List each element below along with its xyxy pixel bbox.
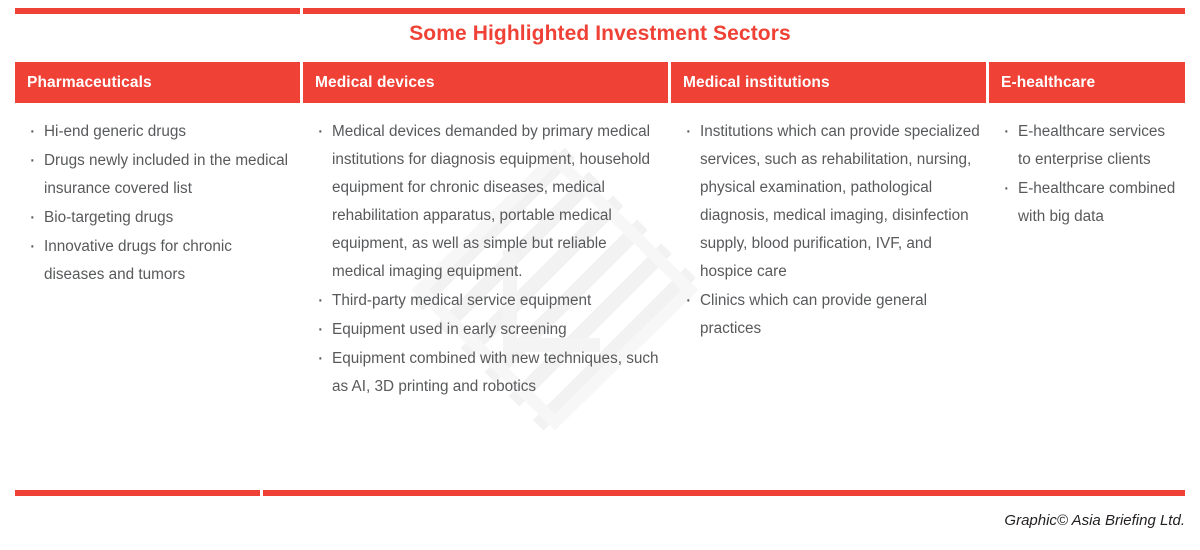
investment-sectors-infographic: Some Highlighted Investment Sectors Phar… xyxy=(0,0,1200,550)
column-header-medical-devices: Medical devices xyxy=(303,62,668,103)
list-item: Bio-targeting drugs xyxy=(27,204,295,232)
list-item: Equipment combined with new techniques, … xyxy=(315,345,663,401)
bullet-list-pharmaceuticals: Hi-end generic drugs Drugs newly include… xyxy=(27,118,295,289)
bullet-list-medical-institutions: Institutions which can provide specializ… xyxy=(683,118,981,343)
column-header-row: Pharmaceuticals Medical devices Medical … xyxy=(15,62,1185,103)
list-item: E-healthcare services to enterprise clie… xyxy=(1001,118,1177,174)
list-item: Innovative drugs for chronic diseases an… xyxy=(27,233,295,289)
list-item: Third-party medical service equipment xyxy=(315,287,663,315)
list-item: Medical devices demanded by primary medi… xyxy=(315,118,663,286)
column-body-pharmaceuticals: Hi-end generic drugs Drugs newly include… xyxy=(15,118,303,402)
page-title: Some Highlighted Investment Sectors xyxy=(0,22,1200,46)
list-item: Institutions which can provide specializ… xyxy=(683,118,981,286)
bullet-list-medical-devices: Medical devices demanded by primary medi… xyxy=(315,118,663,401)
graphic-credit: Graphic© Asia Briefing Ltd. xyxy=(1004,512,1185,529)
column-body-medical-devices: Medical devices demanded by primary medi… xyxy=(303,118,671,402)
bottom-rule-left xyxy=(15,490,260,496)
column-header-e-healthcare: E-healthcare xyxy=(989,62,1185,103)
list-item: E-healthcare combined with big data xyxy=(1001,175,1177,231)
column-body-row: Hi-end generic drugs Drugs newly include… xyxy=(15,118,1185,402)
top-rule-left xyxy=(15,8,300,14)
column-header-medical-institutions: Medical institutions xyxy=(671,62,986,103)
column-header-pharmaceuticals: Pharmaceuticals xyxy=(15,62,300,103)
list-item: Equipment used in early screening xyxy=(315,316,663,344)
bullet-list-e-healthcare: E-healthcare services to enterprise clie… xyxy=(1001,118,1177,231)
column-body-medical-institutions: Institutions which can provide specializ… xyxy=(671,118,989,402)
top-rule-right xyxy=(303,8,1185,14)
list-item: Hi-end generic drugs xyxy=(27,118,295,146)
bottom-rule-right xyxy=(263,490,1185,496)
column-body-e-healthcare: E-healthcare services to enterprise clie… xyxy=(989,118,1185,402)
list-item: Clinics which can provide general practi… xyxy=(683,287,981,343)
list-item: Drugs newly included in the medical insu… xyxy=(27,147,295,203)
